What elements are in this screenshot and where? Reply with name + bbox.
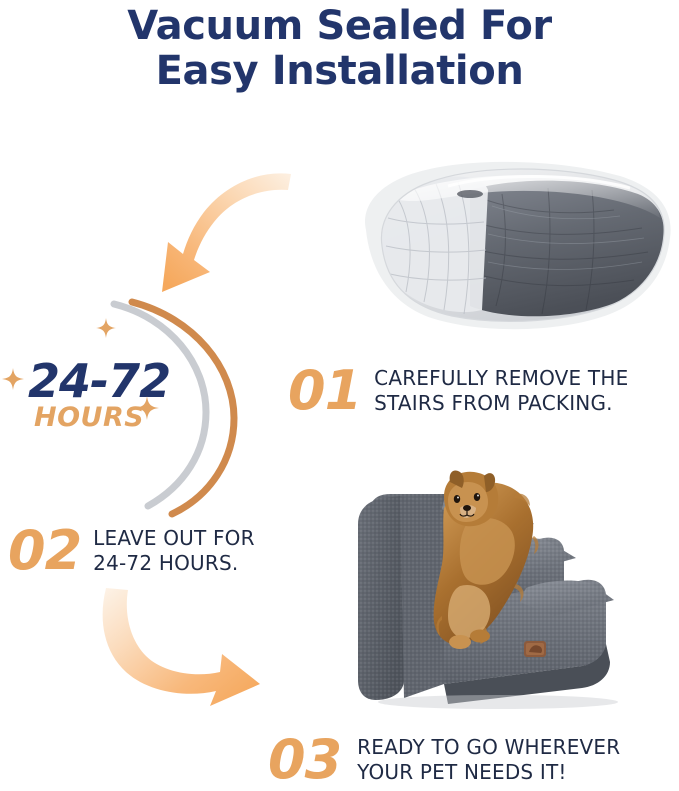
step-text-01-line-2: STAIRS FROM PACKING. <box>374 391 628 416</box>
arrow-to-step-one <box>148 168 294 296</box>
step-item-01: 01 CAREFULLY REMOVE THE STAIRS FROM PACK… <box>288 364 628 418</box>
pet-stairs-with-dog-photo <box>348 466 668 710</box>
step-text-03: READY TO GO WHEREVER YOUR PET NEEDS IT! <box>353 735 620 785</box>
step-text-01-line-1: CAREFULLY REMOVE THE <box>374 366 628 391</box>
vacuum-sealed-package-photo <box>352 160 674 332</box>
badge-duration-unit: HOURS <box>34 402 144 433</box>
sparkle-icon <box>135 396 159 420</box>
page-title: Vacuum Sealed For Easy Installation <box>0 4 679 94</box>
step-item-02: 02 LEAVE OUT FOR 24-72 HOURS. <box>8 524 255 578</box>
step-number-03: 03 <box>268 733 341 787</box>
step-item-03: 03 READY TO GO WHEREVER YOUR PET NEEDS I… <box>268 733 620 787</box>
step-number-01: 01 <box>288 364 361 418</box>
sparkle-icon <box>2 368 24 390</box>
duration-badge: 24-72 HOURS <box>4 306 274 486</box>
step-text-01: CAREFULLY REMOVE THE STAIRS FROM PACKING… <box>374 366 628 416</box>
step-text-03-line-2: YOUR PET NEEDS IT! <box>357 760 620 785</box>
step-text-02-line-2: 24-72 HOURS. <box>93 551 255 576</box>
step-text-02-line-1: LEAVE OUT FOR <box>93 526 255 551</box>
infographic-canvas: Vacuum Sealed For Easy Installation <box>0 0 679 789</box>
step-number-02: 02 <box>8 524 81 578</box>
step-text-02: LEAVE OUT FOR 24-72 HOURS. <box>93 526 255 576</box>
page-title-line-2: Easy Installation <box>0 49 679 94</box>
arrow-to-step-three <box>96 586 286 710</box>
sparkle-icon <box>96 318 116 338</box>
page-title-line-1: Vacuum Sealed For <box>0 4 679 49</box>
step-text-03-line-1: READY TO GO WHEREVER <box>357 735 620 760</box>
brand-logo-patch <box>524 641 546 657</box>
